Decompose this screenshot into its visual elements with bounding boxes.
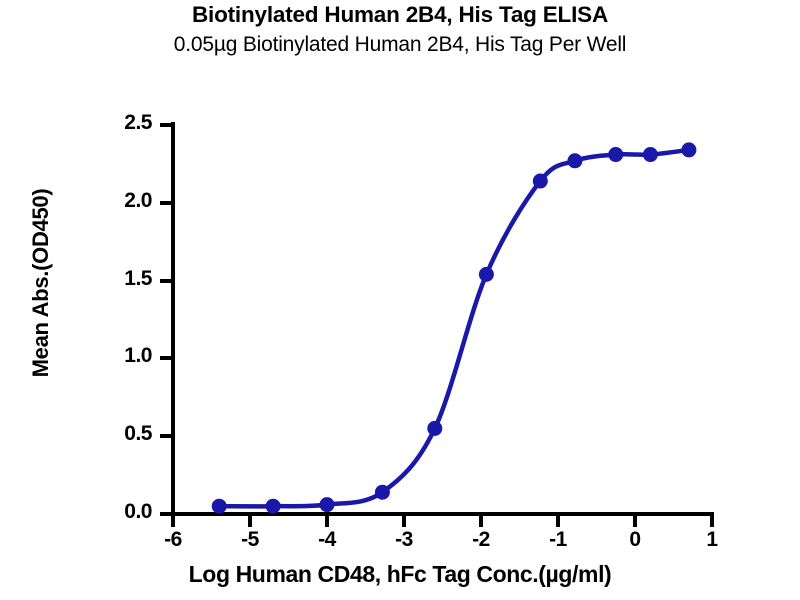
data-point [320,497,335,512]
series-curve [219,150,689,506]
elisa-chart-figure: Biotinylated Human 2B4, His Tag ELISA 0.… [0,0,800,600]
series-markers [212,142,697,513]
data-point [681,142,696,157]
data-point [479,267,494,282]
data-point [375,485,390,500]
data-series-layer [0,0,800,600]
data-point [643,147,658,162]
data-point [567,153,582,168]
data-point [212,499,227,514]
data-point [533,174,548,189]
x-axis-title: Log Human CD48, hFc Tag Conc.(µg/ml) [0,561,800,588]
y-axis-title: Mean Abs.(OD450) [28,123,54,443]
data-point [427,421,442,436]
data-point [266,499,281,514]
data-point [608,147,623,162]
